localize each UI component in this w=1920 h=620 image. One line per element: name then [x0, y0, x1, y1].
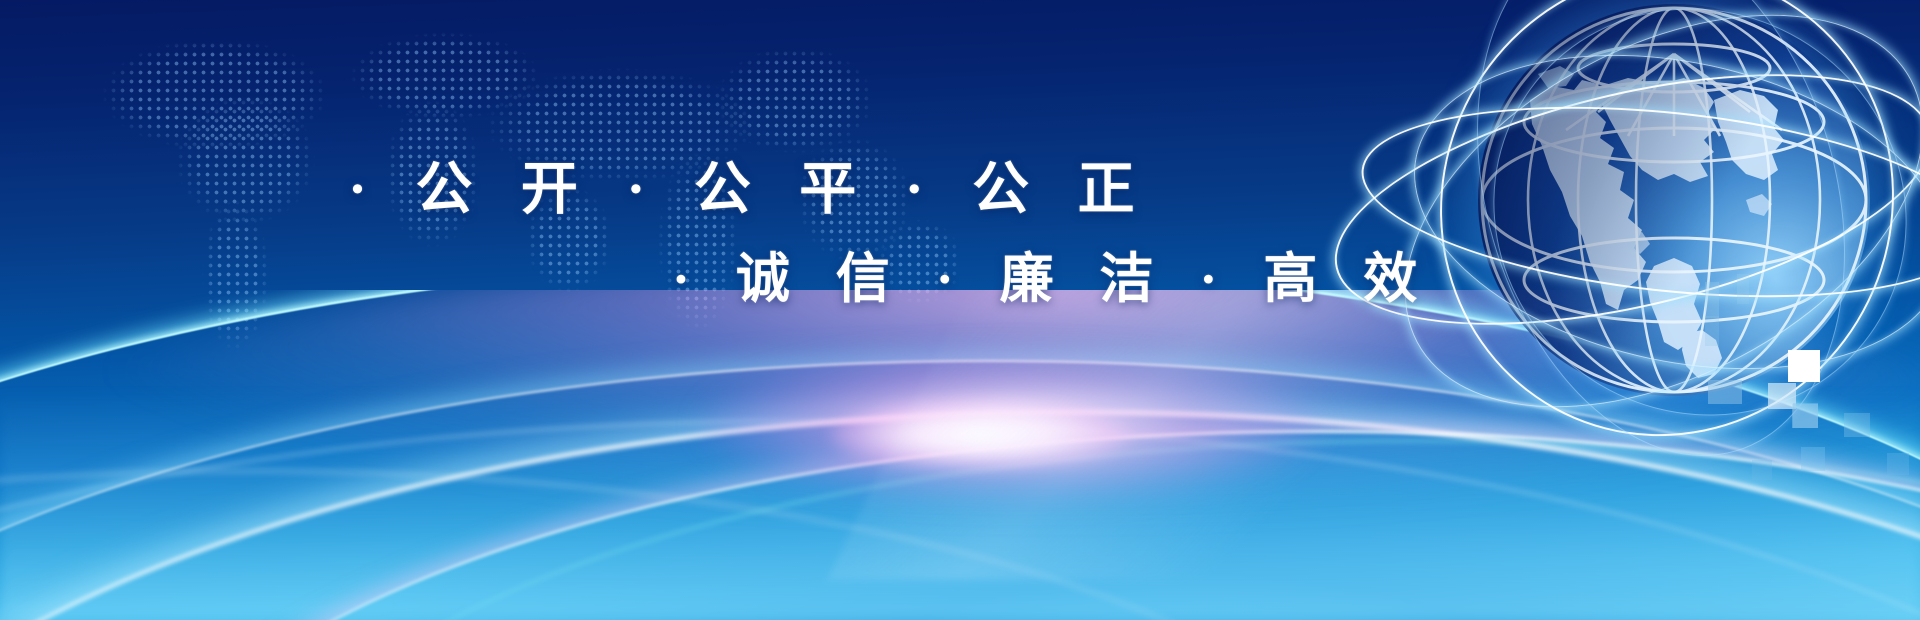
- wave-arc-7: [0, 470, 1400, 620]
- decorative-square-5: [1844, 413, 1870, 437]
- slogan-block: · 公 开 · 公 平 · 公 正 · 诚 信 · 廉 洁 · 高 效: [0, 0, 1250, 620]
- decorative-square-10: [1737, 274, 1749, 304]
- slogan-line-1: · 公 开 · 公 平 · 公 正: [348, 143, 1152, 225]
- dotted-world-map: [40, 10, 1040, 430]
- wave-glow-hotspot: [830, 400, 1130, 470]
- decorative-square-9: [1705, 282, 1719, 318]
- decorative-square-6: [1801, 447, 1825, 471]
- slogan-line-2: · 诚 信 · 廉 洁 · 高 效: [672, 234, 1433, 313]
- globe-icon: [1400, 0, 1920, 482]
- decorative-square-7: [1887, 453, 1909, 475]
- decorative-square-8: [1752, 460, 1772, 480]
- decorative-square-4: [1793, 403, 1818, 428]
- wave-glow-core: [700, 350, 1320, 500]
- decorative-square-2: [1708, 380, 1742, 404]
- decorative-square-11: [1705, 316, 1719, 346]
- banner-root: · 公 开 · 公 平 · 公 正 · 诚 信 · 廉 洁 · 高 效: [0, 0, 1920, 620]
- decorative-square-white: [1788, 350, 1820, 382]
